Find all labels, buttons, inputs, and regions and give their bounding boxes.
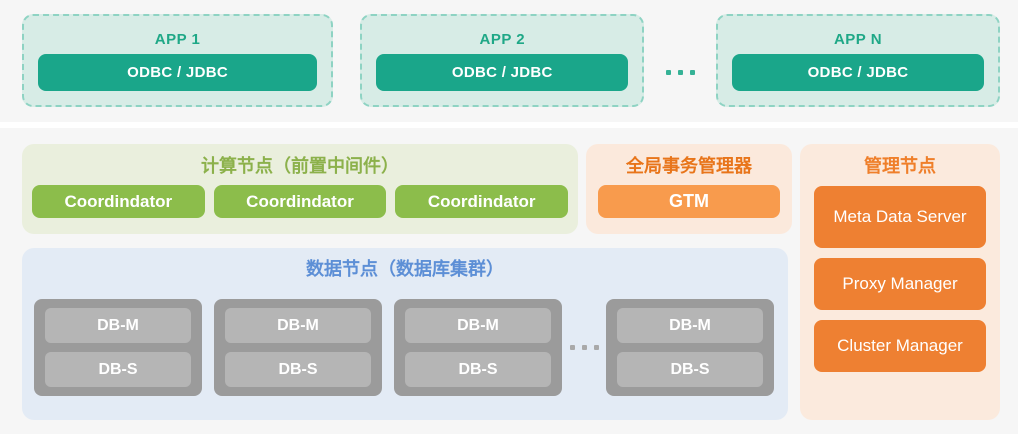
architecture-diagram: APP 1 ODBC / JDBC APP 2 ODBC / JDBC APP …	[0, 0, 1018, 434]
management-node-title: 管理节点	[814, 152, 986, 178]
database-node-3[interactable]: DB-M DB-S	[394, 299, 562, 396]
app-ellipsis	[644, 26, 716, 119]
global-transaction-manager-panel: 全局事务管理器 GTM	[586, 144, 792, 234]
db-slave-cell[interactable]: DB-S	[225, 352, 371, 387]
app-card-1-title: APP 1	[155, 31, 201, 48]
data-node-title: 数据节点（数据库集群）	[34, 255, 776, 281]
application-row: APP 1 ODBC / JDBC APP 2 ODBC / JDBC APP …	[22, 12, 1000, 109]
database-node-1[interactable]: DB-M DB-S	[34, 299, 202, 396]
db-master-cell[interactable]: DB-M	[45, 308, 191, 343]
ellipsis-dot	[582, 345, 587, 350]
app-card-1[interactable]: APP 1 ODBC / JDBC	[22, 14, 333, 107]
coordinator-button-2[interactable]: Coordindator	[214, 185, 387, 218]
data-node-panel: 数据节点（数据库集群） DB-M DB-S DB-M DB-S DB-M DB-…	[22, 248, 788, 420]
db-slave-cell[interactable]: DB-S	[405, 352, 551, 387]
coordinator-row: Coordindator Coordindator Coordindator	[32, 185, 568, 218]
db-master-cell[interactable]: DB-M	[225, 308, 371, 343]
coordinator-button-1[interactable]: Coordindator	[32, 185, 205, 218]
coordinator-button-3[interactable]: Coordindator	[395, 185, 568, 218]
app-card-1-driver-button[interactable]: ODBC / JDBC	[38, 54, 317, 91]
ellipsis-dot	[666, 70, 671, 75]
db-slave-cell[interactable]: DB-S	[45, 352, 191, 387]
app-card-2-driver-button[interactable]: ODBC / JDBC	[376, 54, 628, 91]
cluster-manager-button[interactable]: Cluster Manager	[814, 320, 986, 372]
db-master-cell[interactable]: DB-M	[405, 308, 551, 343]
app-card-n-title: APP N	[834, 31, 882, 48]
ellipsis-dot	[594, 345, 599, 350]
gtm-button[interactable]: GTM	[598, 185, 780, 218]
gtm-title: 全局事务管理器	[598, 152, 780, 178]
ellipsis-dot	[678, 70, 683, 75]
app-card-n-driver-button[interactable]: ODBC / JDBC	[732, 54, 984, 91]
compute-node-panel: 计算节点（前置中间件） Coordindator Coordindator Co…	[22, 144, 578, 234]
proxy-manager-button[interactable]: Proxy Manager	[814, 258, 986, 310]
db-slave-cell[interactable]: DB-S	[617, 352, 763, 387]
app-card-n[interactable]: APP N ODBC / JDBC	[716, 14, 1000, 107]
app-card-2-title: APP 2	[479, 31, 525, 48]
meta-data-server-button[interactable]: Meta Data Server	[814, 186, 986, 248]
app-card-2[interactable]: APP 2 ODBC / JDBC	[360, 14, 644, 107]
db-master-cell[interactable]: DB-M	[617, 308, 763, 343]
database-node-n[interactable]: DB-M DB-S	[606, 299, 774, 396]
database-node-row: DB-M DB-S DB-M DB-S DB-M DB-S DB-M DB-S	[34, 287, 776, 407]
ellipsis-dot	[690, 70, 695, 75]
management-node-panel: 管理节点 Meta Data Server Proxy Manager Clus…	[800, 144, 1000, 420]
ellipsis-dot	[570, 345, 575, 350]
compute-node-title: 计算节点（前置中间件）	[32, 152, 568, 178]
database-node-2[interactable]: DB-M DB-S	[214, 299, 382, 396]
data-node-ellipsis	[562, 345, 606, 350]
